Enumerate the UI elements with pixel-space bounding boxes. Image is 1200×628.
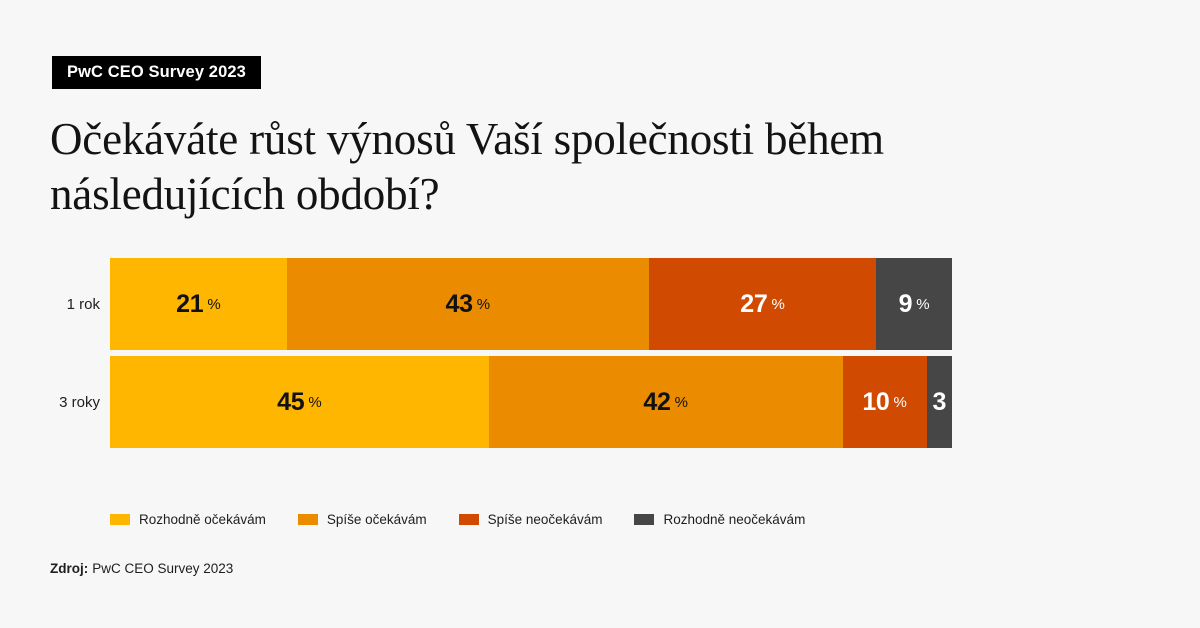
bar-segment: 45% <box>110 356 489 448</box>
legend-swatch-icon <box>298 514 318 525</box>
legend-swatch-icon <box>634 514 654 525</box>
page-title: Očekáváte růst výnosů Vaší společnosti b… <box>50 112 1080 222</box>
legend-label: Rozhodně očekávám <box>139 512 266 527</box>
bar: 45%42%10%3 <box>110 356 952 448</box>
bar-segment: 3 <box>927 356 952 448</box>
page-title-line-2: následujících období? <box>50 167 1080 222</box>
segment-value: 9 <box>899 290 913 319</box>
bar-segment: 9% <box>876 258 952 350</box>
legend-label: Rozhodně neočekávám <box>663 512 805 527</box>
source-value: PwC CEO Survey 2023 <box>92 561 233 576</box>
bar-segment: 27% <box>649 258 876 350</box>
bar-row: 1 rok21%43%27%9% <box>0 258 1200 350</box>
percent-sign: % <box>308 394 321 411</box>
legend-item[interactable]: Spíše neočekávám <box>459 512 603 527</box>
percent-sign: % <box>771 296 784 313</box>
survey-badge-label: PwC CEO Survey 2023 <box>67 63 246 82</box>
bar: 21%43%27%9% <box>110 258 952 350</box>
percent-sign: % <box>477 296 490 313</box>
segment-value: 27 <box>740 290 767 319</box>
percent-sign: % <box>894 394 907 411</box>
legend-item[interactable]: Spíše očekávám <box>298 512 427 527</box>
percent-sign: % <box>675 394 688 411</box>
page-title-line-1: Očekáváte růst výnosů Vaší společnosti b… <box>50 112 1080 167</box>
legend-swatch-icon <box>110 514 130 525</box>
segment-value: 43 <box>446 290 473 319</box>
bar-segment: 21% <box>110 258 287 350</box>
segment-value: 42 <box>643 388 670 417</box>
legend-item[interactable]: Rozhodně očekávám <box>110 512 266 527</box>
segment-value: 3 <box>933 388 947 417</box>
chart-legend: Rozhodně očekávámSpíše očekávámSpíše neo… <box>110 512 837 527</box>
source-label: Zdroj: <box>50 561 88 576</box>
stacked-bar-chart: 1 rok21%43%27%9%3 roky45%42%10%3 <box>0 258 1200 454</box>
legend-swatch-icon <box>459 514 479 525</box>
bar-segment: 43% <box>287 258 649 350</box>
segment-value: 45 <box>277 388 304 417</box>
category-label: 1 rok <box>0 258 100 350</box>
bar-segment: 42% <box>489 356 843 448</box>
percent-sign: % <box>207 296 220 313</box>
legend-label: Spíše očekávám <box>327 512 427 527</box>
bar-row: 3 roky45%42%10%3 <box>0 356 1200 448</box>
legend-item[interactable]: Rozhodně neočekávám <box>634 512 805 527</box>
segment-value: 10 <box>862 388 889 417</box>
category-label: 3 roky <box>0 356 100 448</box>
survey-badge: PwC CEO Survey 2023 <box>52 56 261 89</box>
segment-value: 21 <box>176 290 203 319</box>
legend-label: Spíše neočekávám <box>488 512 603 527</box>
bar-segment: 10% <box>843 356 927 448</box>
source-note: Zdroj:PwC CEO Survey 2023 <box>50 561 233 576</box>
percent-sign: % <box>916 296 929 313</box>
